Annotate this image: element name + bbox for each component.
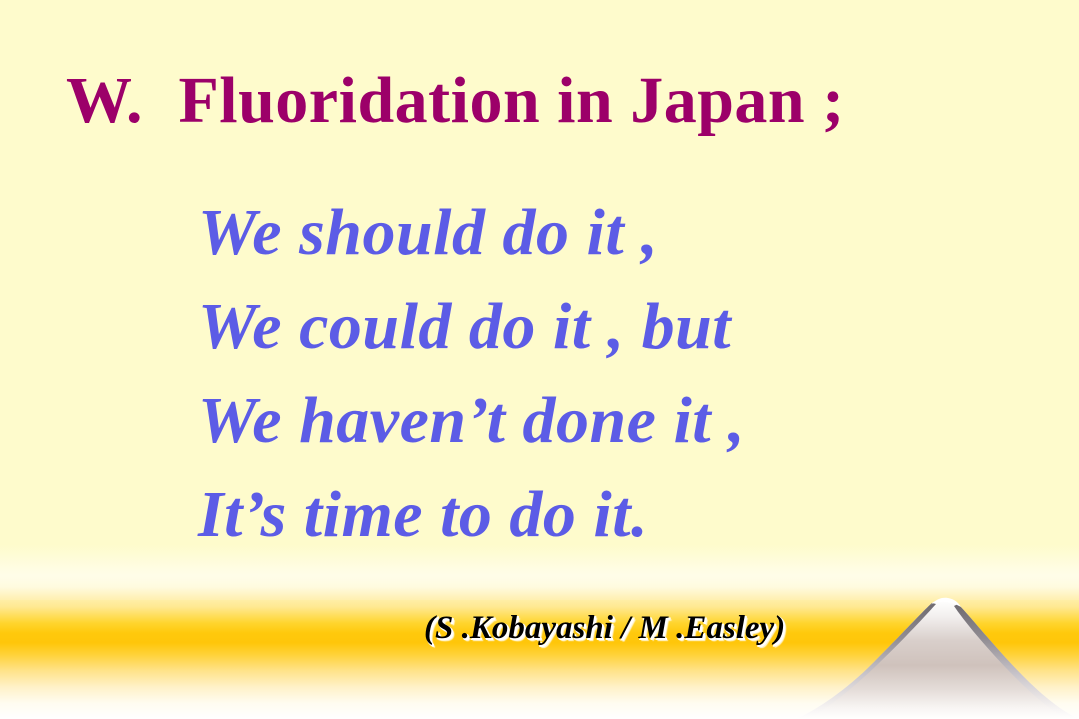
verse-line-2: We could do it , but — [198, 280, 918, 374]
verse-line-3: We haven’t done it , — [198, 374, 918, 468]
title-numeral: W. — [66, 68, 142, 134]
verse-line-4: It’s time to do it. — [198, 468, 918, 562]
mount-fuji-body — [796, 600, 1079, 719]
attribution-text: (S .Kobayashi / M .Easley) — [424, 608, 785, 648]
page-title: W. Fluoridation in Japan ; — [66, 68, 845, 134]
presentation-slide: W. Fluoridation in Japan ; We should do … — [0, 0, 1079, 719]
verse-block: We should do it , We could do it , but W… — [198, 186, 918, 562]
title-text: Fluoridation in Japan ; — [178, 68, 844, 134]
verse-line-1: We should do it , — [198, 186, 918, 280]
